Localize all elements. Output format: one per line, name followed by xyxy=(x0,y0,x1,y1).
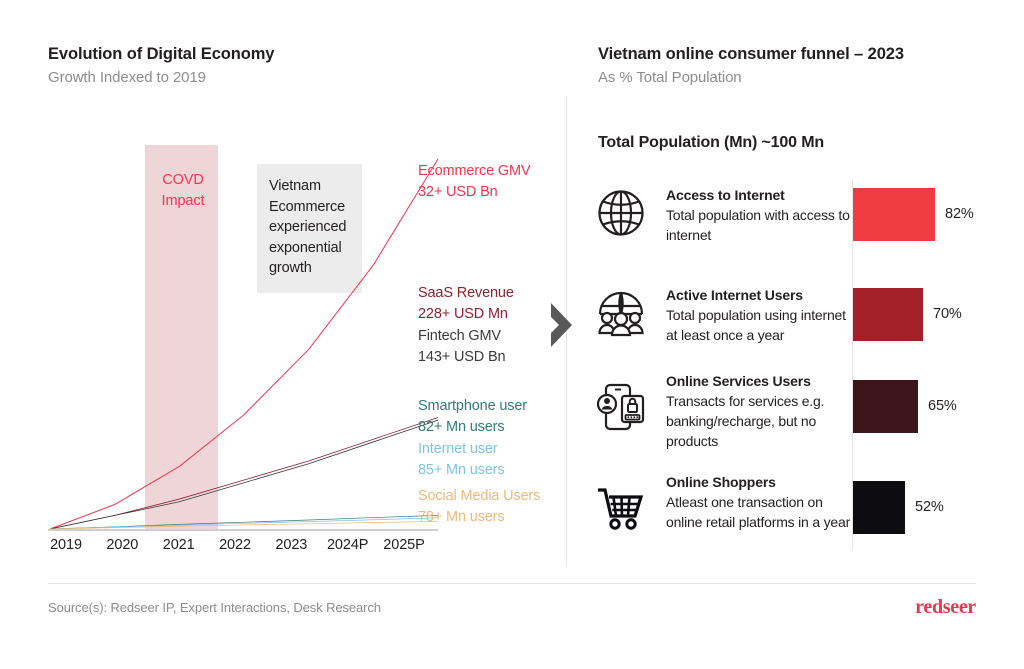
funnel-step-name: Online Shoppers xyxy=(666,473,854,493)
series-name-internet-user: Internet user xyxy=(418,439,504,460)
funnel-bar-active-internet-users xyxy=(853,288,923,341)
left-panel-header: Evolution of Digital Economy Growth Inde… xyxy=(48,45,274,86)
total-population-title: Total Population (Mn) ~100 Mn xyxy=(598,134,824,152)
series-callout-smartphone-user: Smartphone user 82+ Mn users xyxy=(418,396,527,438)
shopping-cart-icon xyxy=(592,479,650,537)
series-name-smartphone-user: Smartphone user xyxy=(418,396,527,417)
funnel-text-online-shoppers: Online Shoppers Atleast one transaction … xyxy=(666,473,854,533)
x-axis-line xyxy=(48,529,438,531)
right-panel-title: Vietnam online consumer funnel – 2023 xyxy=(598,45,904,64)
series-name-social-media-users: Social Media Users xyxy=(418,486,540,507)
right-panel-header: Vietnam online consumer funnel – 2023 As… xyxy=(598,45,904,86)
series-line-fintech-gmv xyxy=(50,420,438,529)
funnel-value-access-to-internet: 82% xyxy=(945,206,974,222)
left-panel-title: Evolution of Digital Economy xyxy=(48,45,274,64)
x-axis-label-2022: 2022 xyxy=(219,537,251,553)
funnel-text-access-to-internet: Access to Internet Total population with… xyxy=(666,186,854,246)
globe-users-icon xyxy=(592,284,650,342)
funnel-bar-access-to-internet xyxy=(853,188,935,241)
funnel-step-desc: Atleast one transaction on online retail… xyxy=(666,493,854,533)
series-value-fintech-gmv: 143+ USD Bn xyxy=(418,347,505,368)
x-axis-label-2023: 2023 xyxy=(275,537,307,553)
series-value-social-media-users: 78+ Mn users xyxy=(418,507,540,528)
series-name-ecommerce-gmv: Ecommerce GMV xyxy=(418,161,530,182)
x-axis-label-2019: 2019 xyxy=(50,537,82,553)
x-axis-labels: 201920202021202220232024P2025P xyxy=(48,537,448,561)
chevron-right-icon xyxy=(548,300,576,355)
series-callout-saas-revenue: SaaS Revenue 228+ USD Mn xyxy=(418,283,514,325)
series-callout-social-media-users: Social Media Users 78+ Mn users xyxy=(418,486,540,528)
funnel-value-online-shoppers: 52% xyxy=(915,499,944,515)
infographic-page: Evolution of Digital Economy Growth Inde… xyxy=(0,0,1024,669)
funnel-step-name: Active Internet Users xyxy=(666,286,854,306)
globe-icon xyxy=(592,184,650,242)
left-panel-subtitle: Growth Indexed to 2019 xyxy=(48,69,274,86)
funnel-step-name: Online Services Users xyxy=(666,372,854,392)
series-callout-ecommerce-gmv: Ecommerce GMV 32+ USD Bn xyxy=(418,161,530,203)
series-line-ecommerce-gmv xyxy=(50,159,438,529)
footer-divider xyxy=(48,583,976,584)
funnel-step-name: Access to Internet xyxy=(666,186,854,206)
series-callout-fintech-gmv: Fintech GMV 143+ USD Bn xyxy=(418,326,505,368)
series-callout-internet-user: Internet user 85+ Mn users xyxy=(418,439,504,481)
funnel-value-active-internet-users: 70% xyxy=(933,306,962,322)
funnel-value-online-services-users: 65% xyxy=(928,398,957,414)
redseer-logo: redseer xyxy=(915,596,976,619)
funnel-text-active-internet-users: Active Internet Users Total population u… xyxy=(666,286,854,346)
mobile-banking-icon xyxy=(592,378,650,436)
series-value-saas-revenue: 228+ USD Mn xyxy=(418,304,514,325)
x-axis-label-2025p: 2025P xyxy=(383,537,424,553)
funnel-step-desc: Transacts for services e.g. banking/rech… xyxy=(666,392,854,452)
series-line-saas-revenue xyxy=(50,417,438,529)
series-value-smartphone-user: 82+ Mn users xyxy=(418,417,527,438)
consumer-funnel-chart: Access to Internet Total population with… xyxy=(590,180,1010,565)
funnel-text-online-services-users: Online Services Users Transacts for serv… xyxy=(666,372,854,452)
source-note: Source(s): Redseer IP, Expert Interactio… xyxy=(48,600,381,615)
x-axis-label-2024p: 2024P xyxy=(327,537,368,553)
series-line-internet-user xyxy=(50,518,438,529)
funnel-bar-online-services-users xyxy=(853,380,918,433)
x-axis-label-2020: 2020 xyxy=(106,537,138,553)
series-name-saas-revenue: SaaS Revenue xyxy=(418,283,514,304)
x-axis-label-2021: 2021 xyxy=(163,537,195,553)
right-panel-subtitle: As % Total Population xyxy=(598,69,904,86)
series-name-fintech-gmv: Fintech GMV xyxy=(418,326,505,347)
series-value-internet-user: 85+ Mn users xyxy=(418,460,504,481)
funnel-bar-online-shoppers xyxy=(853,481,905,534)
funnel-step-desc: Total population with access to internet xyxy=(666,206,854,246)
series-value-ecommerce-gmv: 32+ USD Bn xyxy=(418,182,530,203)
funnel-step-desc: Total population using internet at least… xyxy=(666,306,854,346)
chart-series-lines xyxy=(48,145,448,531)
